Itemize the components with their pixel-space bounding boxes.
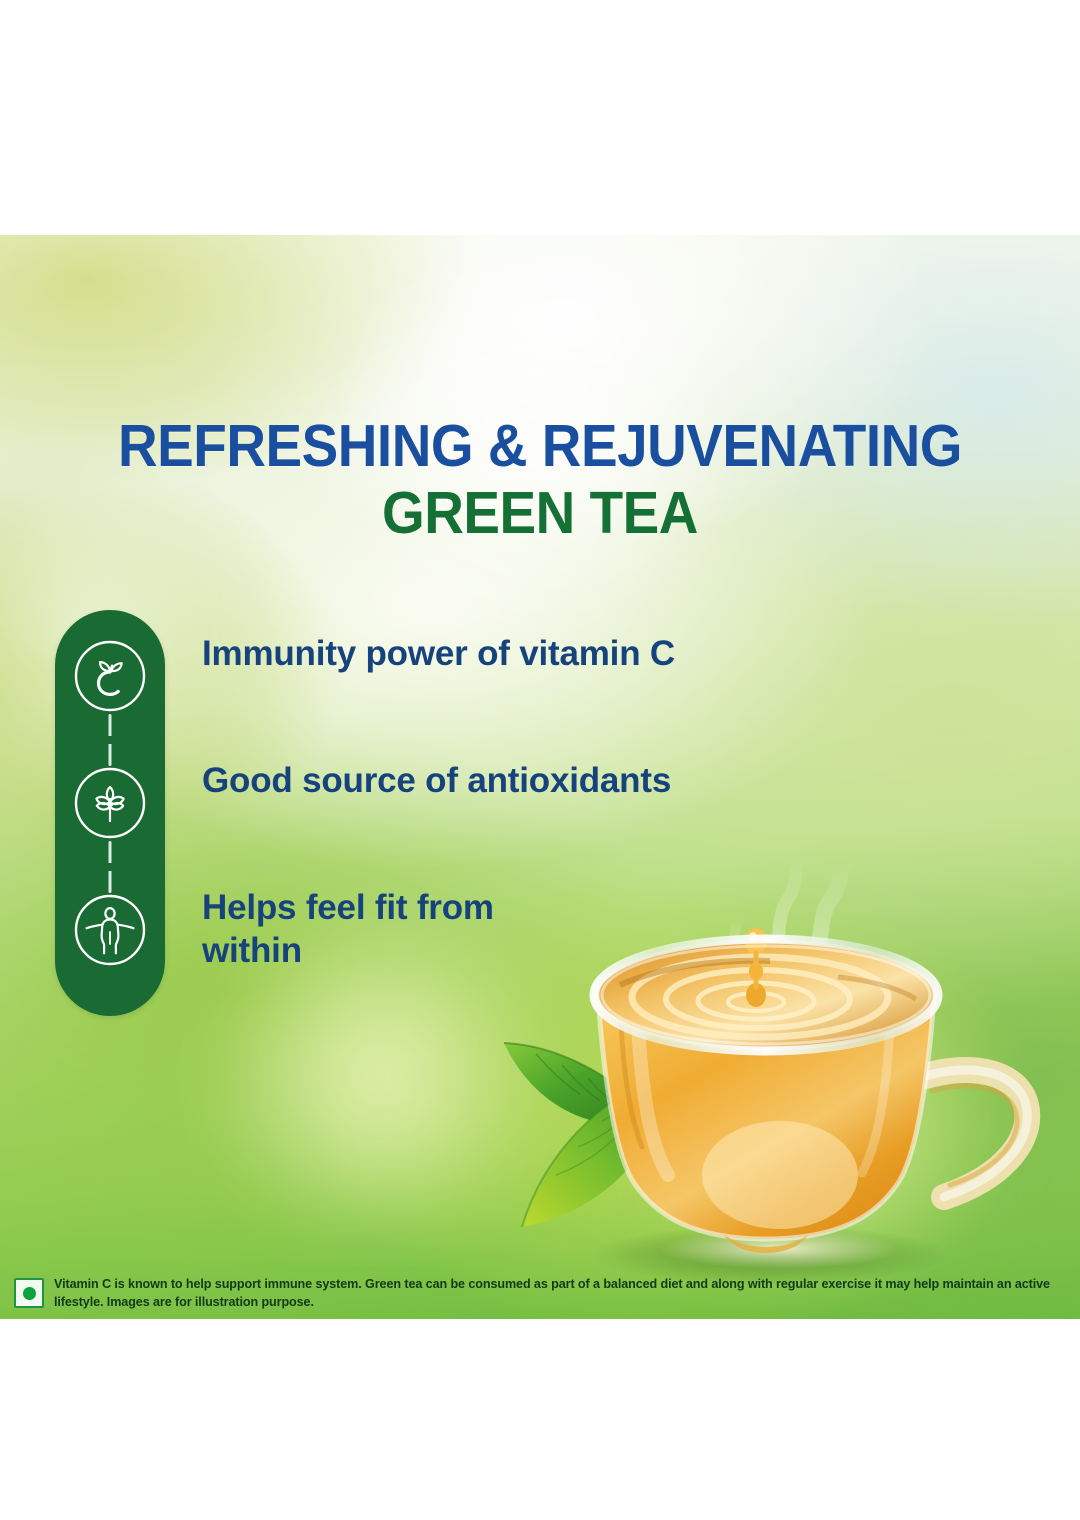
vitamin-c-leaf-icon — [72, 638, 148, 714]
artwork-canvas: REFRESHING & REJUVENATING GREEN TEA — [0, 235, 1080, 1319]
benefit-item-antioxidants: Good source of antioxidants — [202, 760, 671, 803]
rail-connector — [109, 714, 112, 766]
headline-line-2: GREEN TEA — [38, 484, 1042, 543]
green-tea-product-banner: REFRESHING & REJUVENATING GREEN TEA — [0, 0, 1080, 1520]
disclaimer-text: Vitamin C is known to help support immun… — [54, 1275, 1066, 1312]
benefit-icon-rail — [55, 610, 165, 1016]
antioxidant-leaf-rosette-icon — [72, 765, 148, 841]
vegetarian-mark-icon — [14, 1278, 44, 1308]
headline-line-1: REFRESHING & REJUVENATING — [38, 417, 1042, 476]
disclaimer-strip: Vitamin C is known to help support immun… — [0, 1267, 1080, 1319]
vegetarian-dot — [23, 1287, 36, 1300]
cup-handle — [922, 1070, 1027, 1197]
fit-body-figure-icon — [72, 892, 148, 968]
rail-connector — [109, 841, 112, 893]
headline: REFRESHING & REJUVENATING GREEN TEA — [0, 417, 1080, 543]
benefit-item-immunity: Immunity power of vitamin C — [202, 633, 675, 676]
glass-teacup-with-green-tea — [470, 845, 1080, 1319]
